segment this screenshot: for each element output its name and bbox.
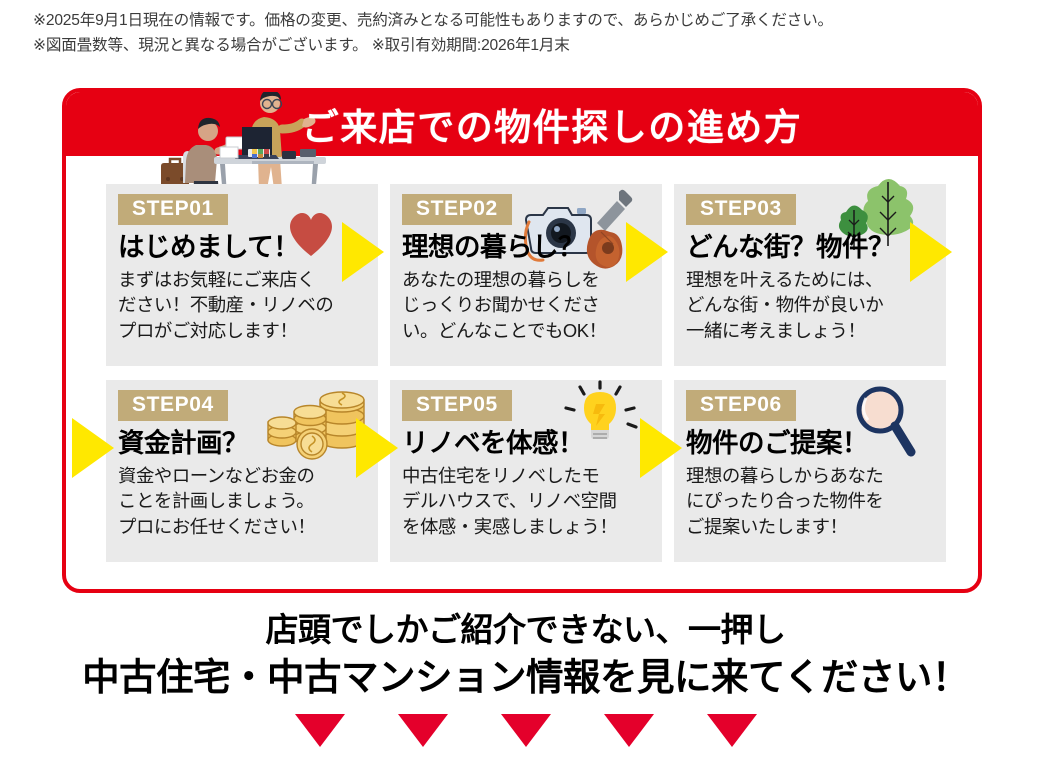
step-body-line: ことを計画しましょう。	[118, 488, 366, 513]
step-body: 理想を叶えるためには、 どんな街・物件が良いか 一緒に考えましょう！	[686, 267, 934, 343]
infographic-page: ※2025年9月1日現在の情報です。価格の変更、売約済みとなる可能性もありますの…	[0, 0, 1051, 763]
page-title: ご来店での物件探しの進め方	[66, 92, 978, 156]
step-body-line: デルハウスで、リノベ空間	[402, 488, 650, 513]
step-body-line: 一緒に考えましょう！	[686, 318, 934, 343]
step-title: 理想の暮らし？	[402, 232, 650, 262]
step-badge: STEP04	[118, 390, 228, 421]
step-body-line: プロにお任せください！	[118, 514, 366, 539]
steps-panel: ご来店での物件探しの進め方 STEP01 はじめまして！ まずはお気軽にご来店く…	[62, 88, 982, 593]
step-body: 中古住宅をリノベしたモ デルハウスで、リノベ空間 を体感・実感しましょう！	[402, 463, 650, 539]
down-triangle	[295, 714, 345, 747]
step-card-01[interactable]: STEP01 はじめまして！ まずはお気軽にご来店く ださい！不動産・リノベの …	[106, 184, 378, 366]
step-card-06[interactable]: STEP06 物件のご提案！ 理想の暮らしからあなた にぴったり合った物件を ご…	[674, 380, 946, 562]
step-card-04[interactable]: STEP04	[106, 380, 378, 562]
step-title: 資金計画？	[118, 428, 366, 458]
step-body: 理想の暮らしからあなた にぴったり合った物件を ご提案いたします！	[686, 463, 934, 539]
disclaimer-line-1: ※2025年9月1日現在の情報です。価格の変更、売約済みとなる可能性もありますの…	[33, 8, 1033, 33]
cta-line-2: 中古住宅・中古マンション情報を見に来てください！	[0, 652, 1051, 702]
step-badge: STEP02	[402, 194, 512, 225]
step-body-line: どんな街・物件が良いか	[686, 292, 934, 317]
step-body-line: い。どんなことでもOK！	[402, 318, 650, 343]
step-body: まずはお気軽にご来店く ださい！不動産・リノベの プロがご対応します！	[118, 267, 366, 343]
step-badge: STEP03	[686, 194, 796, 225]
step-badge: STEP01	[118, 194, 228, 225]
step-body-line: 理想の暮らしからあなた	[686, 463, 934, 488]
step-body-line: にぴったり合った物件を	[686, 488, 934, 513]
cta-line-1: 店頭でしかご紹介できない、一押し	[0, 608, 1051, 652]
next-step-arrow	[640, 418, 682, 478]
step-title: どんな街？物件？	[686, 232, 934, 262]
next-step-arrow	[72, 418, 114, 478]
step-body-line: プロがご対応します！	[118, 318, 366, 343]
step-body-line: 資金やローンなどお金の	[118, 463, 366, 488]
step-badge: STEP06	[686, 390, 796, 421]
next-step-arrow	[626, 222, 668, 282]
step-body-line: じっくりお聞かせくださ	[402, 292, 650, 317]
step-body: あなたの理想の暮らしを じっくりお聞かせくださ い。どんなことでもOK！	[402, 267, 650, 343]
down-triangle-row	[0, 714, 1051, 747]
steps-grid: STEP01 はじめまして！ まずはお気軽にご来店く ださい！不動産・リノベの …	[106, 184, 946, 562]
step-title: 物件のご提案！	[686, 428, 934, 458]
step-body-line: ご提案いたします！	[686, 514, 934, 539]
step-body-line: を体感・実感しましょう！	[402, 514, 650, 539]
call-to-action: 店頭でしかご紹介できない、一押し 中古住宅・中古マンション情報を見に来てください…	[0, 608, 1051, 702]
step-body-line: 理想を叶えるためには、	[686, 267, 934, 292]
step-card-03[interactable]: STEP03 どんな街？物件？ 理想を叶えるためには、 どんな街・物件が良いか …	[674, 184, 946, 366]
down-triangle	[398, 714, 448, 747]
next-step-arrow	[356, 418, 398, 478]
step-card-05[interactable]: STEP05 リノベを体感！	[390, 380, 662, 562]
step-title: リノベを体感！	[402, 428, 650, 458]
down-triangle	[604, 714, 654, 747]
next-step-arrow	[342, 222, 384, 282]
step-body: 資金やローンなどお金の ことを計画しましょう。 プロにお任せください！	[118, 463, 366, 539]
step-body-line: ださい！不動産・リノベの	[118, 292, 366, 317]
disclaimer: ※2025年9月1日現在の情報です。価格の変更、売約済みとなる可能性もありますの…	[33, 8, 1033, 58]
next-step-arrow	[910, 222, 952, 282]
down-triangle	[707, 714, 757, 747]
step-badge: STEP05	[402, 390, 512, 421]
disclaimer-line-2: ※図面畳数等、現況と異なる場合がございます。 ※取引有効期間:2026年1月末	[33, 33, 1033, 58]
step-body-line: あなたの理想の暮らしを	[402, 267, 650, 292]
step-title: はじめまして！	[118, 232, 366, 262]
down-triangle	[501, 714, 551, 747]
step-card-02[interactable]: STEP02	[390, 184, 662, 366]
step-body-line: 中古住宅をリノベしたモ	[402, 463, 650, 488]
step-body-line: まずはお気軽にご来店く	[118, 267, 366, 292]
